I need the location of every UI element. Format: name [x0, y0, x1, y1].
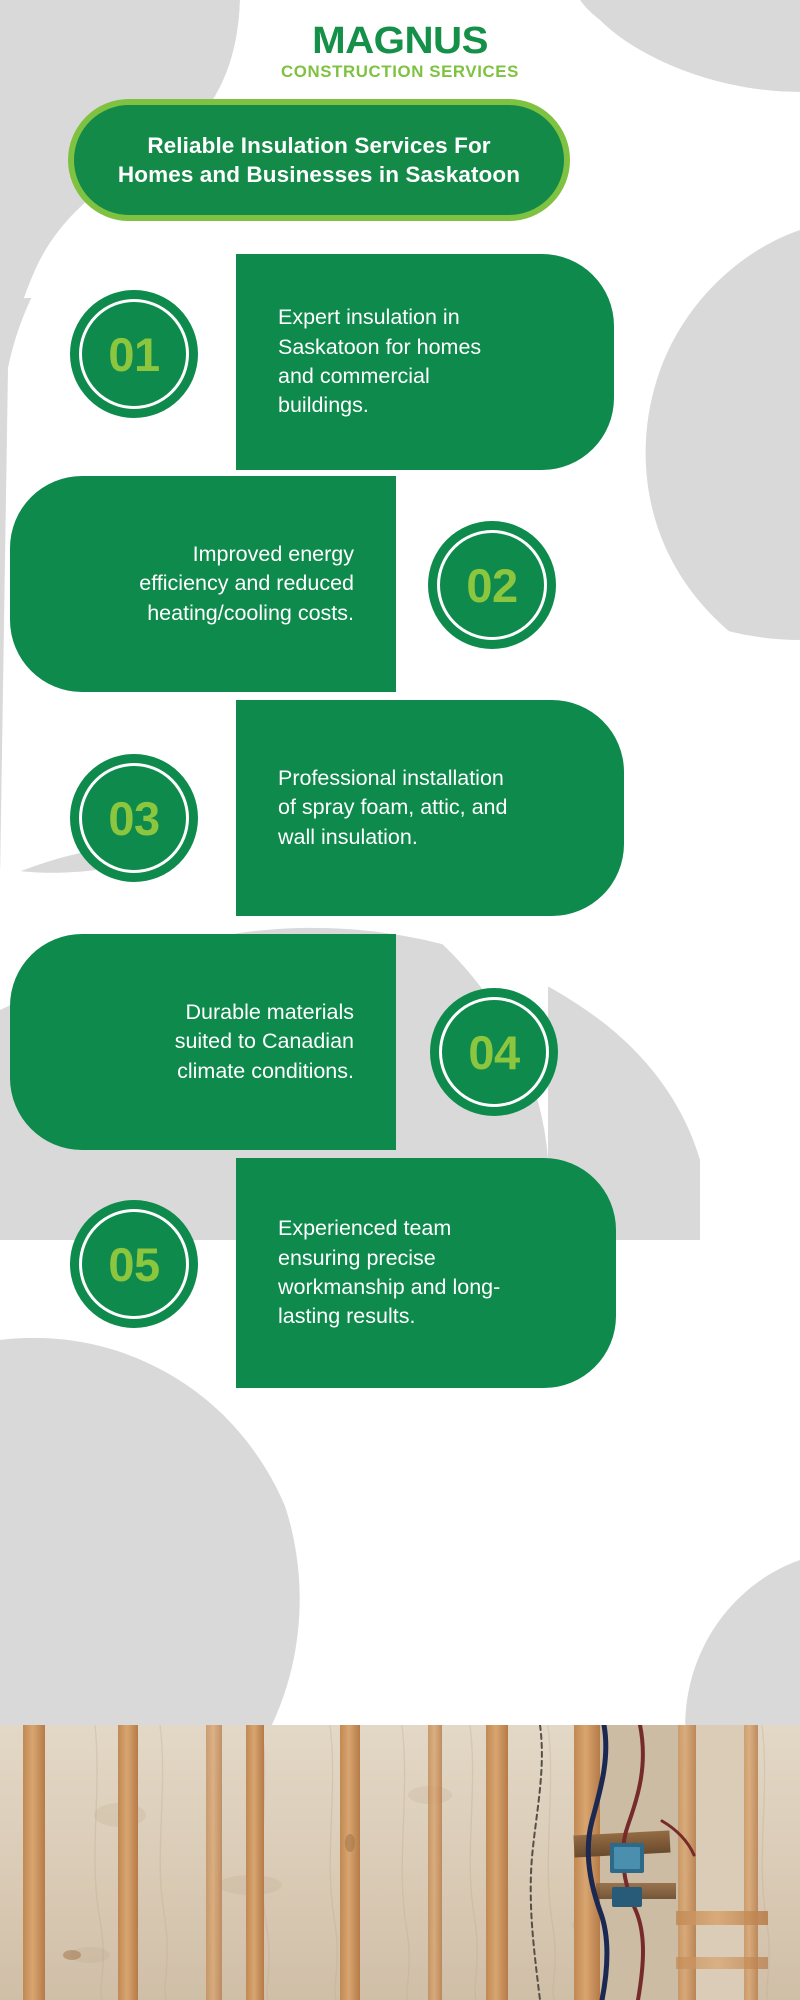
item-text-04: Durable materials suited to Canadian cli… [175, 998, 354, 1086]
item-text-01-line-4: buildings. [278, 393, 369, 417]
item-text-05-line-4: lasting results. [278, 1304, 415, 1328]
item-number-circle-02: 02 [428, 521, 556, 649]
item-text-02-line-2: efficiency and reduced [139, 571, 354, 595]
item-number-circle-03: 03 [70, 754, 198, 882]
item-number-04: 04 [468, 1029, 519, 1076]
item-text-01: Expert insulation in Saskatoon for homes… [278, 303, 481, 421]
item-text-03: Professional installation of spray foam,… [278, 764, 507, 852]
page-title: Reliable Insulation Services For Homes a… [92, 131, 546, 190]
item-text-01-line-2: Saskatoon for homes [278, 335, 481, 359]
item-text-01-line-3: and commercial [278, 364, 430, 388]
infographic-poster: MAGNUS CONSTRUCTION SERVICES Reliable In… [0, 0, 800, 2000]
item-number-circle-05: 05 [70, 1200, 198, 1328]
item-number-circle-04: 04 [430, 988, 558, 1116]
item-number-circle-01: 01 [70, 290, 198, 418]
item-text-04-line-3: climate conditions. [177, 1059, 354, 1083]
item-card-03: Professional installation of spray foam,… [236, 700, 624, 916]
item-card-04: Durable materials suited to Canadian cli… [10, 934, 396, 1150]
item-card-02: Improved energy efficiency and reduced h… [10, 476, 396, 692]
item-card-01: Expert insulation in Saskatoon for homes… [236, 254, 614, 470]
item-text-05-line-1: Experienced team [278, 1216, 451, 1240]
item-text-01-line-1: Expert insulation in [278, 305, 460, 329]
item-text-04-line-2: suited to Canadian [175, 1029, 354, 1053]
item-number-05: 05 [108, 1241, 159, 1288]
item-number-03: 03 [108, 795, 159, 842]
footer-photo [0, 1725, 800, 2000]
item-text-05: Experienced team ensuring precise workma… [278, 1214, 500, 1332]
brand-logo: MAGNUS CONSTRUCTION SERVICES [0, 22, 800, 81]
title-banner: Reliable Insulation Services For Homes a… [68, 99, 570, 221]
page-title-line-2: Homes and Businesses in Saskatoon [118, 162, 520, 187]
item-text-05-line-2: ensuring precise [278, 1246, 436, 1270]
item-number-01: 01 [108, 331, 159, 378]
logo-tagline: CONSTRUCTION SERVICES [0, 64, 800, 81]
item-text-02-line-1: Improved energy [193, 542, 354, 566]
item-text-02: Improved energy efficiency and reduced h… [139, 540, 354, 628]
item-text-03-line-3: wall insulation. [278, 825, 418, 849]
item-text-05-line-3: workmanship and long- [278, 1275, 500, 1299]
item-number-02: 02 [466, 562, 517, 609]
spray-foam-insulation-between-wall-studs-photo [0, 1725, 800, 2000]
item-text-02-line-3: heating/cooling costs. [147, 601, 354, 625]
item-card-05: Experienced team ensuring precise workma… [236, 1158, 616, 1388]
logo-wordmark: MAGNUS [0, 22, 800, 60]
item-text-04-line-1: Durable materials [186, 1000, 354, 1024]
item-text-03-line-2: of spray foam, attic, and [278, 795, 507, 819]
page-title-line-1: Reliable Insulation Services For [147, 133, 490, 158]
item-text-03-line-1: Professional installation [278, 766, 504, 790]
